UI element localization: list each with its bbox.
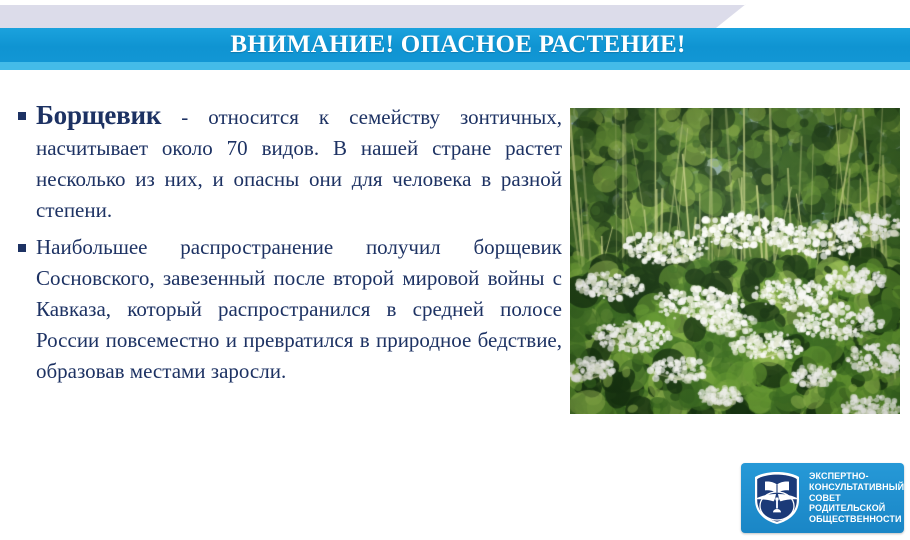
- logo-text-block: ЭКСПЕРТНО- КОНСУЛЬТАТИВНЫЙ СОВЕТ РОДИТЕЛ…: [809, 471, 901, 525]
- square-bullet-icon: [18, 244, 26, 252]
- list-item-text: Наибольшее распространение получил борще…: [36, 235, 562, 383]
- title-bar: ВНИМАНИЕ! ОПАСНОЕ РАСТЕНИЕ!: [0, 28, 910, 62]
- shield-book-wings-torch-emblem: [749, 470, 805, 526]
- header-decorative-band: [0, 0, 746, 28]
- logo-line: КОНСУЛЬТАТИВНЫЙ: [809, 482, 901, 493]
- list-item: Борщевик - относится к семейству зонтичн…: [14, 100, 562, 226]
- logo-line: ОБЩЕСТВЕННОСТИ: [809, 514, 901, 525]
- square-bullet-icon: [18, 112, 26, 120]
- page-title: ВНИМАНИЕ! ОПАСНОЕ РАСТЕНИЕ!: [0, 28, 910, 62]
- slide-header: ВНИМАНИЕ! ОПАСНОЕ РАСТЕНИЕ!: [0, 0, 910, 72]
- organization-logo: ЭКСПЕРТНО- КОНСУЛЬТАТИВНЫЙ СОВЕТ РОДИТЕЛ…: [741, 463, 904, 533]
- list-item: Наибольшее распространение получил борще…: [14, 232, 562, 387]
- title-underline-strip: [0, 62, 910, 70]
- lead-term: Борщевик: [36, 100, 161, 130]
- hogweed-photo-canvas: [570, 108, 900, 414]
- logo-line: РОДИТЕЛЬСКОЙ: [809, 503, 901, 514]
- content-text-block: Борщевик - относится к семейству зонтичн…: [14, 100, 562, 393]
- logo-line: СОВЕТ: [809, 493, 901, 504]
- logo-line: ЭКСПЕРТНО-: [809, 471, 901, 482]
- hogweed-photo: [570, 108, 900, 414]
